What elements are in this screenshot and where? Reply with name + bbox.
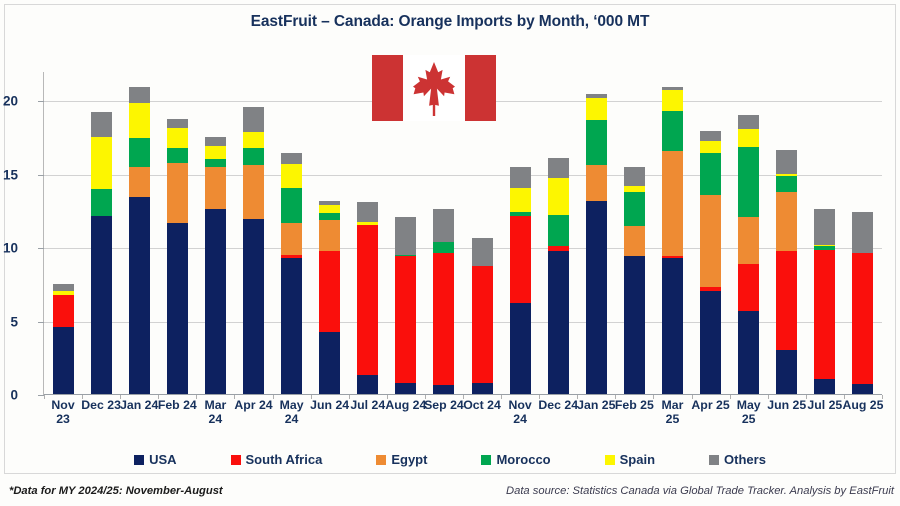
bar-segment-morocco[interactable] [91, 189, 112, 215]
bar-segment-south-africa[interactable] [852, 253, 873, 384]
bar-stack[interactable] [357, 202, 378, 395]
bar-segment-usa[interactable] [167, 223, 188, 395]
bar-segment-others[interactable] [776, 150, 797, 174]
x-tick-label-line: Aug 25 [840, 398, 886, 412]
bar-segment-others[interactable] [281, 153, 302, 164]
bar-segment-spain[interactable] [319, 205, 340, 213]
bar-stack[interactable] [91, 112, 112, 395]
bar-segment-egypt[interactable] [129, 167, 150, 196]
bar-segment-south-africa[interactable] [433, 253, 454, 385]
flag-band-left [372, 55, 403, 121]
bar-segment-egypt[interactable] [167, 163, 188, 223]
bar-segment-spain[interactable] [167, 128, 188, 149]
bar-segment-spain[interactable] [662, 90, 683, 111]
bar-segment-others[interactable] [129, 87, 150, 103]
y-tick-mark [38, 175, 44, 176]
footer: *Data for MY 2024/25: November-August Da… [0, 483, 900, 506]
legend-swatch-icon [709, 455, 719, 465]
bar-segment-morocco[interactable] [586, 120, 607, 165]
bar-segment-spain[interactable] [586, 98, 607, 120]
bar-segment-usa[interactable] [814, 379, 835, 395]
bar-segment-south-africa[interactable] [357, 225, 378, 375]
bar-stack[interactable] [243, 107, 264, 395]
bar-segment-others[interactable] [91, 112, 112, 137]
x-tick-label-line: 25 [649, 412, 695, 426]
bar-segment-egypt[interactable] [319, 220, 340, 251]
legend-item-others[interactable]: Others [709, 452, 766, 467]
bar-segment-spain[interactable] [281, 164, 302, 188]
bar-segment-egypt[interactable] [776, 192, 797, 251]
bar-stack[interactable] [548, 158, 569, 395]
bar-segment-south-africa[interactable] [510, 216, 531, 303]
bar-stack[interactable] [776, 150, 797, 395]
flag-band-right [465, 55, 496, 121]
bar-segment-usa[interactable] [205, 209, 226, 395]
bar-segment-spain[interactable] [700, 141, 721, 153]
legend-label: USA [149, 452, 176, 467]
bar-segment-egypt[interactable] [662, 151, 683, 257]
bar-segment-others[interactable] [624, 167, 645, 186]
bar-segment-morocco[interactable] [243, 148, 264, 164]
bar-segment-spain[interactable] [738, 129, 759, 147]
maple-leaf-icon [412, 58, 456, 118]
page-title: EastFruit – Canada: Orange Imports by Mo… [0, 13, 900, 31]
bar-segment-morocco[interactable] [738, 147, 759, 217]
bar-segment-morocco[interactable] [281, 188, 302, 223]
bar-stack[interactable] [852, 212, 873, 395]
chart-page: EastFruit – Canada: Orange Imports by Mo… [0, 0, 900, 506]
bar-segment-morocco[interactable] [624, 192, 645, 226]
bar-segment-egypt[interactable] [243, 165, 264, 219]
bar-segment-spain[interactable] [510, 188, 531, 211]
x-tick-mark [882, 395, 883, 399]
bar-stack[interactable] [624, 167, 645, 395]
bar-segment-others[interactable] [53, 284, 74, 291]
y-tick-mark [38, 248, 44, 249]
bar-stack[interactable] [586, 94, 607, 395]
bar-stack[interactable] [167, 119, 188, 395]
y-axis-line [43, 72, 44, 395]
bar-segment-usa[interactable] [662, 258, 683, 395]
canada-flag-icon [372, 55, 496, 121]
bar-segment-usa[interactable] [357, 375, 378, 395]
bar-stack[interactable] [700, 131, 721, 395]
bar-segment-others[interactable] [472, 238, 493, 266]
bar-segment-usa[interactable] [776, 350, 797, 396]
bar-segment-others[interactable] [510, 167, 531, 188]
legend-swatch-icon [481, 455, 491, 465]
bar-segment-spain[interactable] [624, 186, 645, 193]
x-tick-label-line: 24 [497, 412, 543, 426]
bar-segment-morocco[interactable] [662, 111, 683, 151]
y-tick-label: 15 [0, 167, 18, 182]
bar-stack[interactable] [53, 284, 74, 395]
y-tick-label: 0 [0, 388, 18, 403]
bar-segment-morocco[interactable] [776, 176, 797, 192]
bar-segment-others[interactable] [243, 107, 264, 132]
bar-segment-usa[interactable] [281, 258, 302, 395]
bar-stack[interactable] [738, 115, 759, 395]
legend-item-egypt[interactable]: Egypt [376, 452, 427, 467]
bar-stack[interactable] [281, 153, 302, 395]
bar-segment-morocco[interactable] [433, 242, 454, 253]
bar-stack[interactable] [510, 167, 531, 395]
bar-segment-south-africa[interactable] [472, 266, 493, 383]
bar-segment-others[interactable] [548, 158, 569, 179]
x-tick-label-line: 24 [269, 412, 315, 426]
bar-segment-others[interactable] [167, 119, 188, 128]
bar-segment-spain[interactable] [91, 137, 112, 190]
bar-segment-morocco[interactable] [205, 159, 226, 168]
bar-segment-morocco[interactable] [548, 215, 569, 246]
legend-item-south-africa[interactable]: South Africa [231, 452, 323, 467]
bar-segment-south-africa[interactable] [776, 251, 797, 349]
y-tick-label: 20 [0, 94, 18, 109]
bar-segment-usa[interactable] [243, 219, 264, 395]
x-tick-label-line: 24 [192, 412, 238, 426]
y-tick-mark [38, 322, 44, 323]
bar-segment-others[interactable] [357, 202, 378, 222]
legend-swatch-icon [376, 455, 386, 465]
legend-label: Others [724, 452, 766, 467]
legend-label: Morocco [496, 452, 550, 467]
bar-stack[interactable] [662, 87, 683, 395]
legend-swatch-icon [134, 455, 144, 465]
bar-segment-usa[interactable] [91, 216, 112, 395]
bar-segment-spain[interactable] [129, 103, 150, 138]
y-tick-label: 5 [0, 314, 18, 329]
bar-segment-morocco[interactable] [167, 148, 188, 163]
y-tick-mark [38, 101, 44, 102]
legend-label: Egypt [391, 452, 427, 467]
bar-stack[interactable] [129, 87, 150, 395]
legend-label: Spain [620, 452, 655, 467]
legend-label: South Africa [246, 452, 323, 467]
legend-swatch-icon [231, 455, 241, 465]
bar-segment-south-africa[interactable] [319, 251, 340, 332]
y-tick-label: 10 [0, 241, 18, 256]
bar-stack[interactable] [205, 137, 226, 395]
bar-segment-south-africa[interactable] [738, 264, 759, 311]
bar-segment-morocco[interactable] [129, 138, 150, 167]
bar-segment-usa[interactable] [700, 291, 721, 395]
bar-segment-egypt[interactable] [586, 165, 607, 201]
bar-stack[interactable] [319, 201, 340, 395]
footnote-left: *Data for MY 2024/25: November-August [9, 485, 223, 497]
legend-item-usa[interactable]: USA [134, 452, 176, 467]
bar-segment-usa[interactable] [624, 256, 645, 395]
x-tick-label-line: 25 [726, 412, 772, 426]
bar-segment-others[interactable] [205, 137, 226, 146]
bar-stack[interactable] [433, 209, 454, 395]
bar-segment-others[interactable] [433, 209, 454, 242]
bar-segment-spain[interactable] [548, 178, 569, 215]
bar-segment-egypt[interactable] [624, 226, 645, 255]
bar-segment-others[interactable] [814, 209, 835, 245]
legend-swatch-icon [605, 455, 615, 465]
bar-segment-others[interactable] [700, 131, 721, 141]
bar-segment-usa[interactable] [53, 327, 74, 395]
bar-segment-usa[interactable] [548, 251, 569, 395]
bar-segment-others[interactable] [852, 212, 873, 254]
bar-segment-morocco[interactable] [700, 153, 721, 196]
x-tick-label-line: 23 [40, 412, 86, 426]
bar-segment-egypt[interactable] [738, 217, 759, 264]
bar-segment-usa[interactable] [319, 332, 340, 395]
bar-segment-egypt[interactable] [700, 195, 721, 287]
bar-segment-south-africa[interactable] [814, 250, 835, 379]
x-tick-label: Aug 25 [840, 398, 886, 412]
bar-segment-others[interactable] [738, 115, 759, 130]
bar-stack[interactable] [814, 209, 835, 395]
bar-segment-egypt[interactable] [205, 167, 226, 208]
bar-segment-south-africa[interactable] [395, 256, 416, 383]
bar-stack[interactable] [472, 238, 493, 395]
bar-stack[interactable] [395, 217, 416, 395]
legend-item-morocco[interactable]: Morocco [481, 452, 550, 467]
bar-segment-usa[interactable] [738, 311, 759, 395]
bar-segment-usa[interactable] [586, 201, 607, 395]
legend: USASouth AfricaEgyptMoroccoSpainOthers [4, 452, 896, 467]
bar-segment-usa[interactable] [129, 197, 150, 395]
bar-segment-morocco[interactable] [319, 213, 340, 220]
bar-segment-usa[interactable] [510, 303, 531, 395]
legend-item-spain[interactable]: Spain [605, 452, 655, 467]
bar-segment-south-africa[interactable] [53, 295, 74, 327]
bar-segment-egypt[interactable] [281, 223, 302, 255]
bar-segment-others[interactable] [395, 217, 416, 254]
footnote-right: Data source: Statistics Canada via Globa… [506, 485, 894, 497]
bar-segment-spain[interactable] [205, 146, 226, 158]
bar-segment-spain[interactable] [243, 132, 264, 148]
